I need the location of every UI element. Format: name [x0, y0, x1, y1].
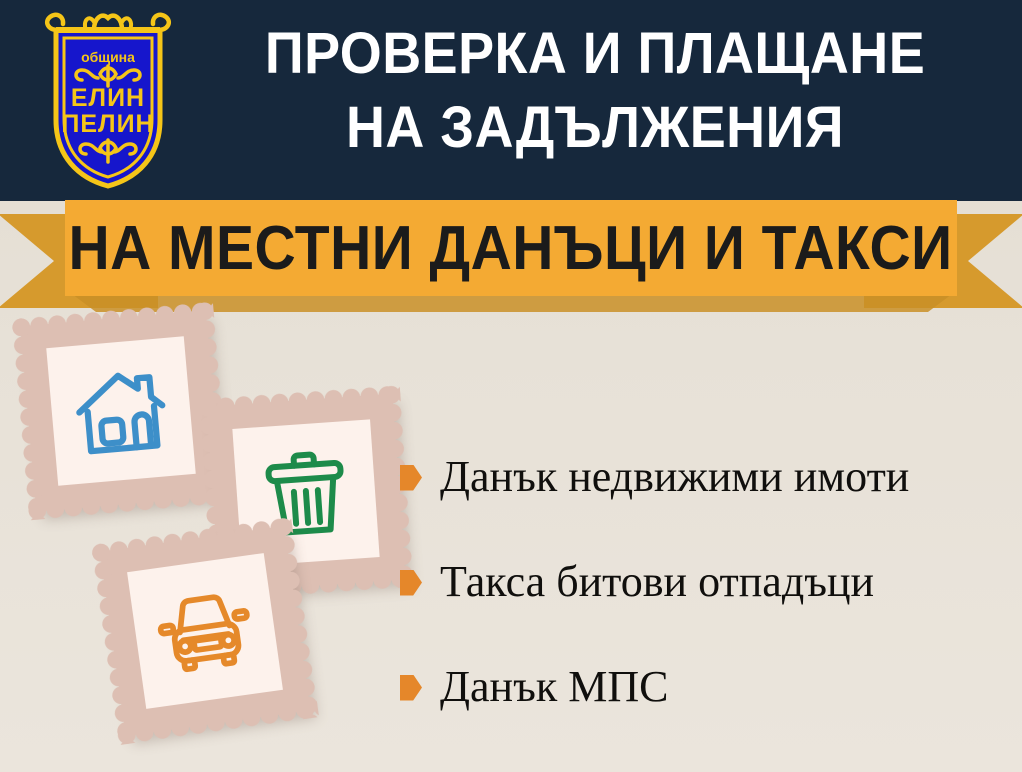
logo-line-one: ЕЛИН — [71, 84, 145, 112]
municipality-logo: община ЕЛИН ПЕЛИН — [42, 8, 174, 190]
list-item-label: Такса битови отпадъци — [440, 558, 874, 606]
arrow-bullet-icon — [400, 570, 422, 596]
tax-type-list: Данък недвижими имоти Такса битови отпад… — [400, 425, 1000, 740]
stamp-paper — [127, 553, 283, 709]
ribbon-text: НА МЕСТНИ ДАНЪЦИ И ТАКСИ — [69, 213, 953, 284]
list-item[interactable]: Данък МПС — [400, 635, 1000, 740]
coat-of-arms-icon: община ЕЛИН ПЕЛИН — [42, 8, 174, 190]
list-item[interactable]: Данък недвижими имоти — [400, 425, 1000, 530]
house-icon — [65, 355, 178, 468]
car-front-icon — [146, 572, 263, 689]
ribbon: НА МЕСТНИ ДАНЪЦИ И ТАКСИ — [0, 196, 1022, 308]
logo-line-two: ПЕЛИН — [61, 110, 154, 138]
logo-small-label: община — [81, 49, 135, 65]
stamp-card-house — [20, 310, 222, 512]
list-item[interactable]: Такса битови отпадъци — [400, 530, 1000, 635]
list-item-label: Данък МПС — [440, 663, 668, 711]
list-item-label: Данък недвижими имоти — [440, 453, 909, 501]
poster-canvas: ПРОВЕРКА И ПЛАЩАНЕ НА ЗАДЪЛЖЕНИЯ община — [0, 0, 1022, 772]
arrow-bullet-icon — [400, 465, 422, 491]
stamp-card-car — [100, 526, 310, 736]
page-title: ПРОВЕРКА И ПЛАЩАНЕ НА ЗАДЪЛЖЕНИЯ — [214, 17, 977, 165]
arrow-bullet-icon — [400, 675, 422, 701]
stamp-paper — [46, 336, 196, 486]
ribbon-band: НА МЕСТНИ ДАНЪЦИ И ТАКСИ — [65, 200, 957, 296]
